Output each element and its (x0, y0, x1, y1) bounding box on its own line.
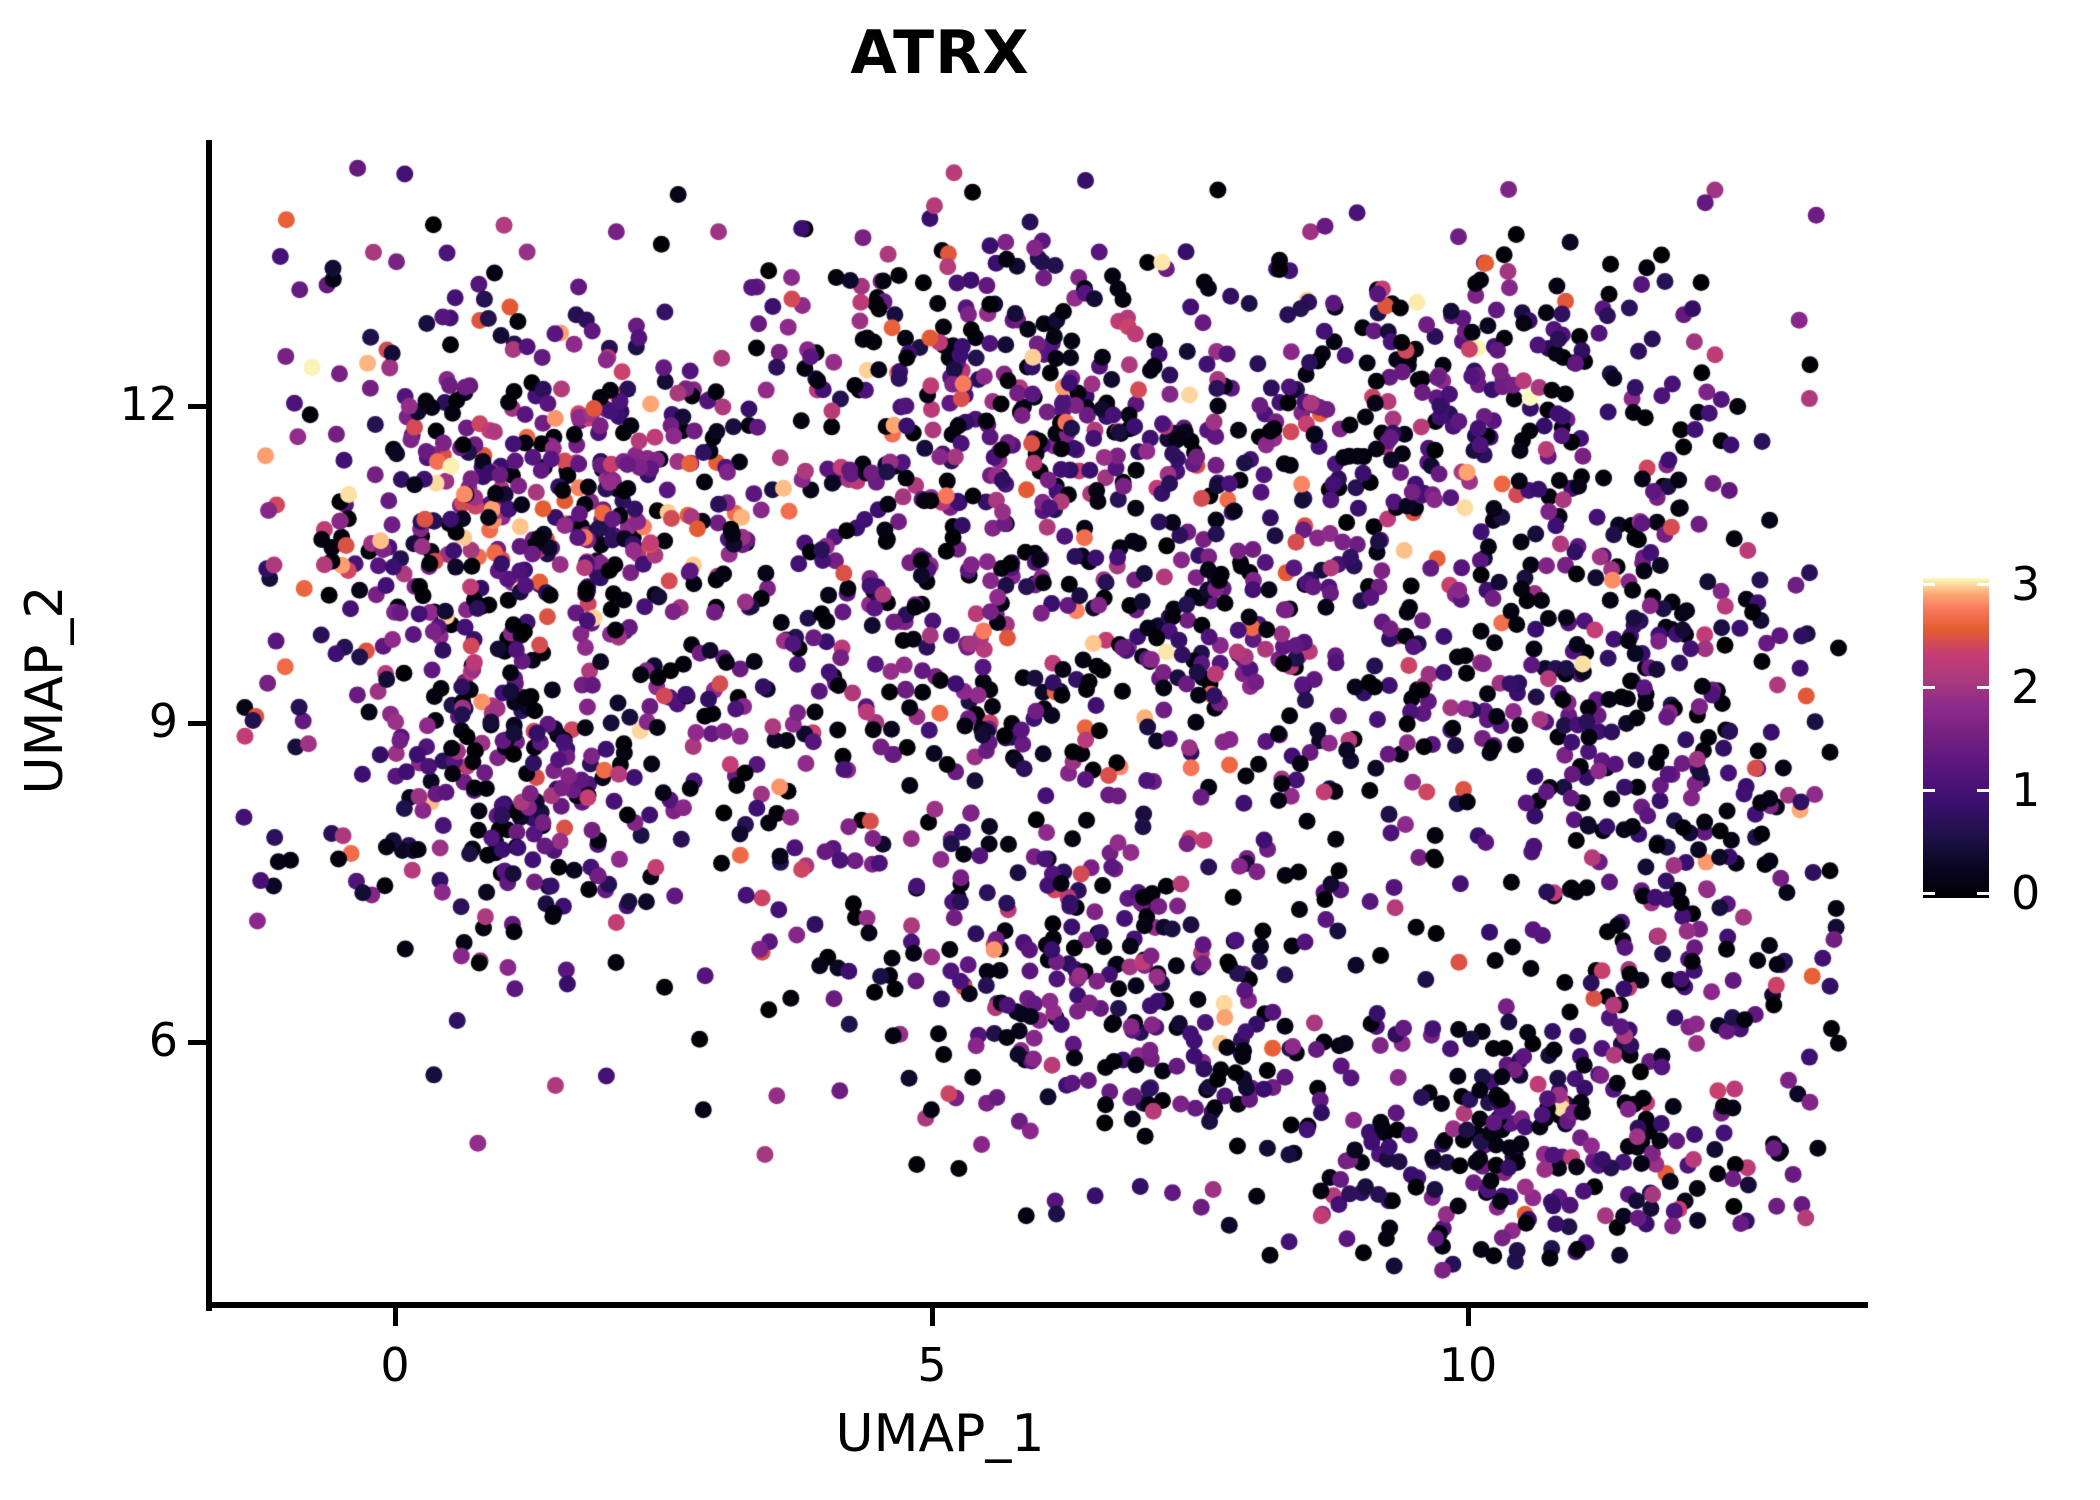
colorbar-tick-0-left (1923, 892, 1935, 895)
y-ticklabel-12: 12 (78, 377, 178, 431)
y-ticklabel-9: 9 (78, 694, 178, 748)
colorbar-label-1: 1 (2011, 763, 2040, 817)
colorbar-tick-3-right (1977, 583, 1989, 586)
colorbar-gradient (1923, 578, 1989, 898)
scatter-points-canvas (211, 140, 1868, 1305)
colorbar-label-0: 0 (2011, 866, 2040, 920)
y-tick-12 (188, 404, 206, 409)
x-axis-spine (206, 1302, 1868, 1308)
umap-feature-plot: ATRX 12 9 6 0 5 10 UMAP_1 UMAP_2 3 2 1 0 (0, 0, 2100, 1500)
y-tick-9 (188, 721, 206, 726)
x-axis-label: UMAP_1 (0, 1404, 1880, 1464)
colorbar-tick-1-left (1923, 789, 1935, 792)
colorbar-tick-2-left (1923, 686, 1935, 689)
scatter-plot-area (211, 140, 1868, 1305)
colorbar-tick-3-left (1923, 583, 1935, 586)
x-ticklabel-5: 5 (872, 1338, 992, 1392)
colorbar-tick-0-right (1977, 892, 1989, 895)
x-tick-5 (930, 1308, 935, 1326)
page-title: ATRX (0, 18, 1880, 88)
y-axis-spine (206, 140, 212, 1311)
y-ticklabel-6: 6 (78, 1013, 178, 1067)
x-tick-10 (1466, 1308, 1471, 1326)
colorbar-tick-2-right (1977, 686, 1989, 689)
colorbar-label-3: 3 (2011, 557, 2040, 611)
colorbar-label-2: 2 (2011, 660, 2040, 714)
y-axis-label: UMAP_2 (15, 390, 75, 990)
colorbar-tick-1-right (1977, 789, 1989, 792)
x-tick-0 (393, 1308, 398, 1326)
y-tick-6 (188, 1040, 206, 1045)
x-ticklabel-0: 0 (335, 1338, 455, 1392)
x-ticklabel-10: 10 (1408, 1338, 1528, 1392)
